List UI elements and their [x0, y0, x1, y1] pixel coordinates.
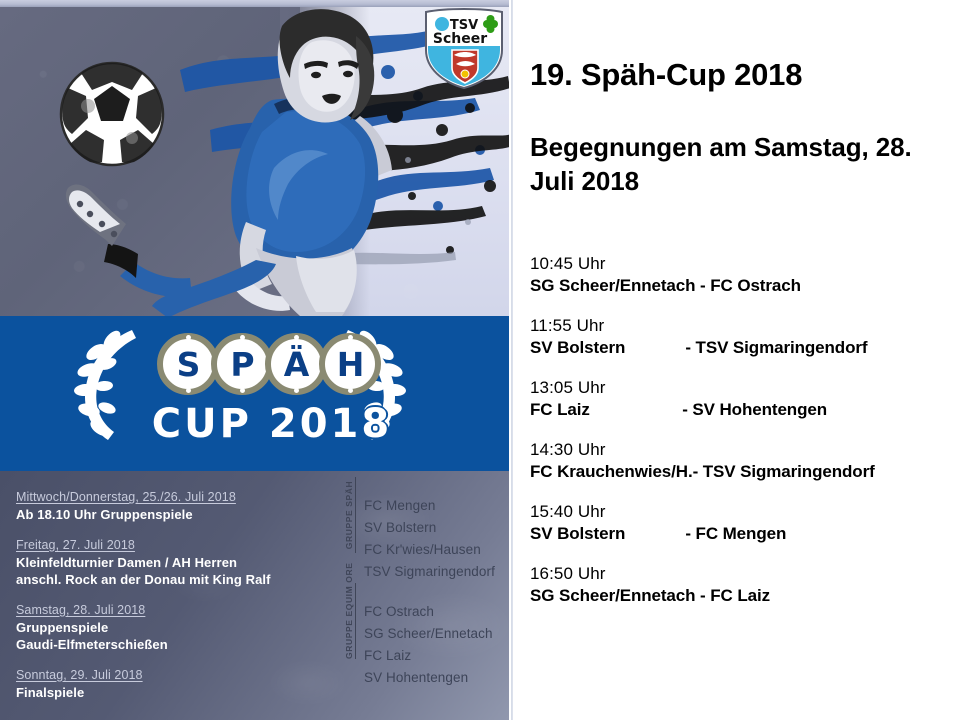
- event-schedule: Mittwoch/Donnerstag, 25./26. Juli 2018 A…: [16, 488, 326, 713]
- logo-cup-text: CUP 2018: [122, 404, 422, 444]
- spaeh-cup-logo: S P Ä H CUP 2018: [30, 316, 450, 468]
- match-teams: SG Scheer/Ennetach - FC Ostrach: [530, 275, 960, 298]
- match-teams: SG Scheer/Ennetach - FC Laiz: [530, 585, 960, 608]
- schedule-line: Ab 18.10 Uhr Gruppenspiele: [16, 506, 326, 524]
- match-row: 11:55 Uhr SV Bolstern - TSV Sigmaringend…: [530, 315, 960, 360]
- schedule-line: Gaudi-Elfmeterschießen: [16, 636, 326, 654]
- schedule-date: Sonntag, 29. Juli 2018: [16, 667, 143, 684]
- group-team: FC Ostrach: [364, 601, 513, 623]
- group-team: TSV Sigmaringendorf: [364, 561, 513, 583]
- logo-letter-0: S: [177, 348, 200, 381]
- match-time: 10:45 Uhr: [530, 253, 960, 275]
- match-row: 13:05 Uhr FC Laiz - SV Hohentengen: [530, 377, 960, 422]
- match-list: 10:45 Uhr SG Scheer/Ennetach - FC Ostrac…: [530, 253, 960, 625]
- schedule-date: Samstag, 28. Juli 2018: [16, 602, 145, 619]
- match-time: 11:55 Uhr: [530, 315, 960, 337]
- match-time: 13:05 Uhr: [530, 377, 960, 399]
- schedule-date: Freitag, 27. Juli 2018: [16, 537, 135, 554]
- schedule-block: Freitag, 27. Juli 2018 Kleinfeldturnier …: [16, 536, 326, 589]
- group-spaeh: GRUPPE SPÄH FC Mengen SV Bolstern FC Kr'…: [334, 495, 513, 587]
- schedule-line: anschl. Rock an der Donau mit King Ralf: [16, 571, 326, 589]
- group-team: FC Mengen: [364, 495, 513, 517]
- football-player-icon: [60, 8, 400, 320]
- page-subtitle: Begegnungen am Samstag, 28. Juli 2018: [530, 130, 955, 199]
- group-label: GRUPPE SPÄH: [344, 477, 356, 553]
- match-teams: FC Laiz - SV Hohentengen: [530, 399, 960, 422]
- match-row: 10:45 Uhr SG Scheer/Ennetach - FC Ostrac…: [530, 253, 960, 298]
- logo-ring-1: P: [211, 333, 273, 395]
- logo-ring-0: S: [157, 333, 219, 395]
- group-team: SV Bolstern: [364, 517, 513, 539]
- match-teams: FC Krauchenwies/H.- TSV Sigmaringendorf: [530, 461, 960, 484]
- logo-letter-rings: S P Ä H: [134, 326, 404, 402]
- match-row: 14:30 Uhr FC Krauchenwies/H.- TSV Sigmar…: [530, 439, 960, 484]
- group-label: GRUPPE EQUIM ORE: [344, 583, 356, 659]
- page-title: 19. Späh-Cup 2018: [530, 58, 950, 92]
- group-team: SV Hohentengen: [364, 667, 513, 689]
- match-teams: SV Bolstern - FC Mengen: [530, 523, 960, 546]
- match-row: 16:50 Uhr SG Scheer/Ennetach - FC Laiz: [530, 563, 960, 608]
- poster-screenshot: TSV Scheer: [0, 0, 960, 720]
- match-teams: SV Bolstern - TSV Sigmaringendorf: [530, 337, 960, 360]
- logo-ring-2: Ä: [265, 333, 327, 395]
- match-time: 15:40 Uhr: [530, 501, 960, 523]
- logo-letter-2: Ä: [284, 348, 309, 381]
- logo-ring-3: H: [319, 333, 381, 395]
- match-time: 16:50 Uhr: [530, 563, 960, 585]
- schedule-line: Gruppenspiele: [16, 619, 326, 637]
- group-equim-ore: GRUPPE EQUIM ORE FC Ostrach SG Scheer/En…: [334, 601, 513, 693]
- schedule-date: Mittwoch/Donnerstag, 25./26. Juli 2018: [16, 489, 236, 506]
- tsv-scheer-crest-icon: TSV Scheer: [416, 6, 512, 92]
- logo-letter-1: P: [230, 348, 253, 381]
- group-team: FC Laiz: [364, 645, 513, 667]
- svg-text:Scheer: Scheer: [433, 31, 487, 47]
- schedule-block: Sonntag, 29. Juli 2018 Finalspiele: [16, 666, 326, 702]
- schedule-line: Finalspiele: [16, 684, 326, 702]
- group-listings: GRUPPE SPÄH FC Mengen SV Bolstern FC Kr'…: [334, 495, 513, 707]
- group-team: FC Kr'wies/Hausen: [364, 539, 513, 561]
- logo-letter-3: H: [337, 348, 364, 381]
- match-row: 15:40 Uhr SV Bolstern - FC Mengen: [530, 501, 960, 546]
- schedule-line: Kleinfeldturnier Damen / AH Herren: [16, 554, 326, 572]
- group-team: SG Scheer/Ennetach: [364, 623, 513, 645]
- schedule-block: Mittwoch/Donnerstag, 25./26. Juli 2018 A…: [16, 488, 326, 524]
- fixtures-panel: 19. Späh-Cup 2018 Begegnungen am Samstag…: [513, 0, 960, 720]
- match-time: 14:30 Uhr: [530, 439, 960, 461]
- tournament-poster: TSV Scheer: [0, 0, 513, 720]
- schedule-block: Samstag, 28. Juli 2018 Gruppenspiele Gau…: [16, 601, 326, 654]
